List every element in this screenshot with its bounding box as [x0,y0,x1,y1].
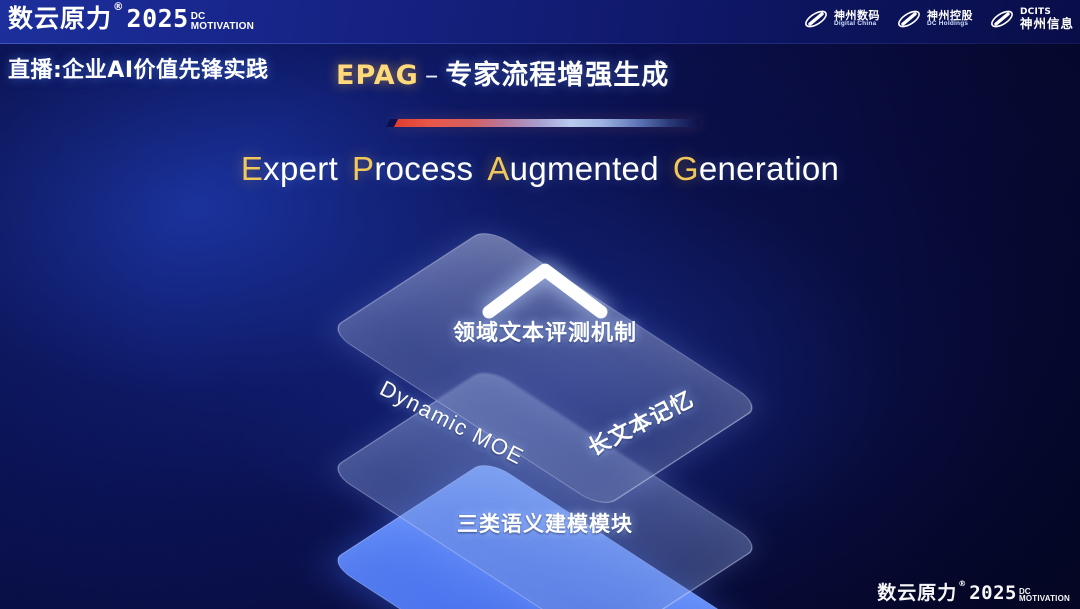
subtitle-word-augmented: Augmented [487,150,659,187]
chevron-up-icon [479,258,611,322]
brand-year: 2025 [127,6,189,31]
stack-caption-top: 领域文本评测机制 [453,315,637,347]
brand-dc-motivation: DC MOTIVATION [191,12,254,31]
swoosh-icon [989,6,1015,32]
swoosh-icon [803,6,829,32]
partner-logos: 神州数码 Digital China 神州控股 DC Holdings [803,6,1074,32]
subtitle-word-generation: Generation [673,150,839,187]
partner-name-en: Digital China [834,21,880,28]
brand-name-cn: 数云原力® [8,6,125,31]
partner-text: DCITS 神州信息 [1020,8,1074,31]
live-stream-label: 直播:企业AI价值先锋实践 [8,52,269,84]
watermark-dc-line2: MOTIVATION [1019,595,1070,603]
brand-dc-line2: MOTIVATION [191,22,254,32]
subtitle-rest-process: rocess [374,150,473,187]
subtitle-word-expert: Expert [241,150,338,187]
partner-logo-dc-holdings: 神州控股 DC Holdings [896,6,973,32]
subtitle-cap-a: A [487,150,509,187]
partner-text: 神州控股 DC Holdings [927,10,973,28]
subtitle-cap-e: E [241,150,263,187]
subtitle-cap-g: G [673,150,699,187]
top-banner: 数云原力® 2025 DC MOTIVATION 神州数码 Digital Ch… [0,0,1080,44]
partner-logo-digital-china: 神州数码 Digital China [803,6,880,32]
watermark-dc-motivation: DC MOTIVATION [1019,588,1070,603]
partner-name-en: DC Holdings [927,21,973,28]
headline-acronym: EPAG [336,60,419,91]
subtitle-word-process: Process [352,150,473,187]
slide-headline: EPAG–专家流程增强生成 [336,53,669,92]
watermark-year: 2025 [969,584,1017,603]
brand-watermark: 数云原力® 2025 DC MOTIVATION [877,584,1070,603]
partner-logo-dcits: DCITS 神州信息 [989,6,1074,32]
brand-logo: 数云原力® 2025 DC MOTIVATION [8,6,254,31]
subtitle-rest-expert: xpert [263,150,338,187]
accent-gradient-bar [392,119,700,127]
slide-canvas: 数云原力® 2025 DC MOTIVATION 神州数码 Digital Ch… [0,0,1080,609]
registered-mark-icon: ® [958,579,967,588]
partner-name-cn: 神州信息 [1020,17,1074,30]
swoosh-icon [896,6,922,32]
page-title: ExpertProcessAugmentedGeneration [0,150,1080,188]
headline-separator: – [425,60,440,91]
subtitle-rest-augmented: ugmented [510,150,659,187]
watermark-name-cn: 数云原力® [877,584,967,603]
partner-text: 神州数码 Digital China [834,10,880,28]
subtitle-rest-generation: eneration [699,150,839,187]
stack-caption-bottom: 三类语义建模模块 [457,508,633,538]
subtitle-cap-p: P [352,150,374,187]
headline-chinese: 专家流程增强生成 [445,60,669,91]
registered-mark-icon: ® [113,1,125,13]
